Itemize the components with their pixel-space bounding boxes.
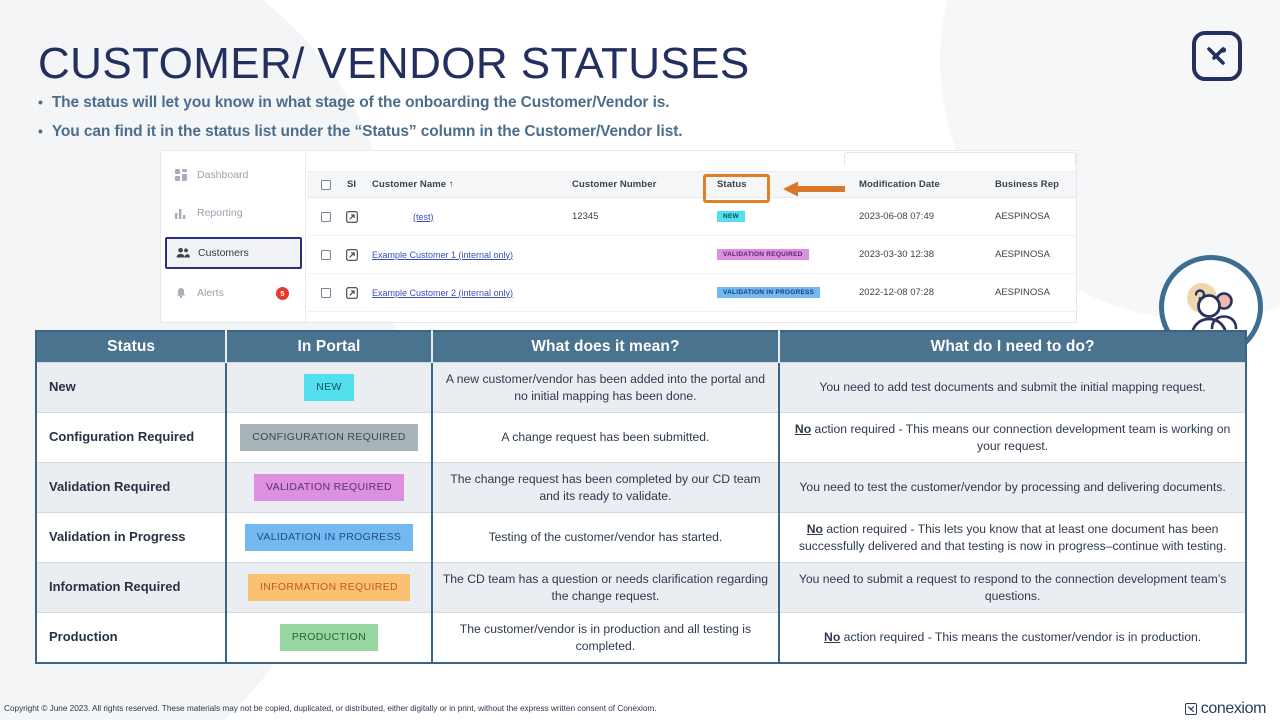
column-header-in-portal: In Portal xyxy=(226,331,431,363)
grid-column-customer-name[interactable]: Customer Name ↑ xyxy=(372,172,454,197)
portal-chip-cell: VALIDATION REQUIRED xyxy=(226,463,431,513)
status-badge: VALIDATION REQUIRED xyxy=(717,236,809,273)
grid-column-si[interactable]: SI xyxy=(347,172,356,197)
table-row: Validation Required VALIDATION REQUIRED … xyxy=(36,463,1246,513)
status-chip: VALIDATION IN PROGRESS xyxy=(245,524,413,551)
portal-chip-cell: CONFIGURATION REQUIRED xyxy=(226,413,431,463)
table-header-row: Status In Portal What does it mean? What… xyxy=(36,331,1246,363)
open-external-icon[interactable] xyxy=(346,236,358,273)
status-badge: VALIDATION IN PROGRESS xyxy=(717,274,820,311)
conexiom-x-mark-icon xyxy=(1185,703,1197,715)
bullet-list: • The status will let you know in what s… xyxy=(38,93,683,151)
conexiom-x-logo-icon xyxy=(1192,31,1242,81)
meaning-cell: Testing of the customer/vendor has start… xyxy=(432,513,780,563)
meaning-cell: The change request has been completed by… xyxy=(432,463,780,513)
portal-chip-cell: PRODUCTION xyxy=(226,613,431,664)
sidebar-item-dashboard[interactable]: Dashboard xyxy=(161,161,305,189)
people-icon xyxy=(176,247,193,259)
column-header-what-does-it-mean: What does it mean? xyxy=(432,331,780,363)
table-row: New NEW A new customer/vendor has been a… xyxy=(36,363,1246,413)
status-chip-label: NEW xyxy=(717,211,745,222)
action-cell: No action required - This lets you know … xyxy=(779,513,1246,563)
status-chip: VALIDATION REQUIRED xyxy=(254,474,404,501)
table-row: Validation in Progress VALIDATION IN PRO… xyxy=(36,513,1246,563)
status-column-highlight-box xyxy=(703,174,770,203)
sidebar-item-label: Customers xyxy=(198,247,249,259)
table-row: Production PRODUCTION The customer/vendo… xyxy=(36,613,1246,664)
meaning-cell: The CD team has a question or needs clar… xyxy=(432,563,780,613)
row-checkbox[interactable] xyxy=(321,236,331,273)
open-external-icon[interactable] xyxy=(346,274,358,311)
open-external-icon[interactable] xyxy=(346,198,358,235)
table-row: Configuration Required CONFIGURATION REQ… xyxy=(36,413,1246,463)
meaning-cell: The customer/vendor is in production and… xyxy=(432,613,780,664)
app-sidebar: Dashboard Reporting xyxy=(161,151,306,322)
grid-column-customer-number[interactable]: Customer Number xyxy=(572,172,656,197)
portal-chip-cell: INFORMATION REQUIRED xyxy=(226,563,431,613)
bullet-dot-icon: • xyxy=(38,122,43,140)
business-rep-cell: AESPINOSA xyxy=(995,274,1050,311)
bullet-item: • You can find it in the status list und… xyxy=(38,122,683,141)
sidebar-item-label: Reporting xyxy=(197,207,243,219)
column-header-status: Status xyxy=(36,331,226,363)
annotation-arrow-icon xyxy=(783,180,845,203)
table-row: Information Required INFORMATION REQUIRE… xyxy=(36,563,1246,613)
conexiom-footer-logo: conexiom xyxy=(1185,700,1266,718)
status-label: Configuration Required xyxy=(36,413,226,463)
grid-header-row: SI Customer Name ↑ Customer Number Statu… xyxy=(307,171,1076,198)
conexiom-wordmark: conexiom xyxy=(1201,700,1266,718)
table-row[interactable]: Example Customer 2 (internal only) VALID… xyxy=(307,274,1076,312)
modification-date-cell: 2023-03-30 12:38 xyxy=(859,236,934,273)
action-text: action required - This lets you know tha… xyxy=(799,522,1226,553)
modification-date-cell: 2023-06-08 07:49 xyxy=(859,198,934,235)
row-checkbox[interactable] xyxy=(321,198,331,235)
meaning-cell: A new customer/vendor has been added int… xyxy=(432,363,780,413)
bullet-dot-icon: • xyxy=(38,93,43,111)
grid-toolbar xyxy=(307,151,1076,163)
sidebar-item-label: Dashboard xyxy=(197,169,248,181)
grid-column-business-rep[interactable]: Business Rep xyxy=(995,172,1059,197)
action-cell: No action required - This means the cust… xyxy=(779,613,1246,664)
slide-root: CUSTOMER/ VENDOR STATUSES • The status w… xyxy=(0,0,1280,720)
sidebar-item-label: Alerts xyxy=(197,287,224,299)
action-cell: You need to test the customer/vendor by … xyxy=(779,463,1246,513)
status-label: Validation in Progress xyxy=(36,513,226,563)
status-badge: NEW xyxy=(717,198,745,235)
status-chip: CONFIGURATION REQUIRED xyxy=(240,424,417,451)
action-text: You need to submit a request to respond … xyxy=(799,572,1227,603)
copyright-text: Copyright © June 2023. All rights reserv… xyxy=(4,703,657,713)
business-rep-cell: AESPINOSA xyxy=(995,236,1050,273)
column-header-what-do-i-need-to-do: What do I need to do? xyxy=(779,331,1246,363)
sidebar-item-reporting[interactable]: Reporting xyxy=(161,199,305,227)
customer-name-link[interactable]: Example Customer 1 (internal only) xyxy=(372,236,513,273)
bar-chart-icon xyxy=(175,207,192,219)
action-text: action required - This means the custome… xyxy=(840,630,1201,644)
action-prefix: No xyxy=(795,422,811,436)
bullet-text: The status will let you know in what sta… xyxy=(52,93,670,112)
portal-chip-cell: NEW xyxy=(226,363,431,413)
business-rep-cell: AESPINOSA xyxy=(995,198,1050,235)
status-label: Validation Required xyxy=(36,463,226,513)
action-cell: No action required - This means our conn… xyxy=(779,413,1246,463)
customer-number-cell: 12345 xyxy=(572,198,598,235)
status-reference-table: Status In Portal What does it mean? What… xyxy=(35,330,1247,664)
action-prefix: No xyxy=(807,522,823,536)
page-title: CUSTOMER/ VENDOR STATUSES xyxy=(38,39,750,89)
status-label: Production xyxy=(36,613,226,664)
action-text: action required - This means our connect… xyxy=(811,422,1230,453)
customer-name-link[interactable]: Example Customer 2 (internal only) xyxy=(372,274,513,311)
modification-date-cell: 2022-12-08 07:28 xyxy=(859,274,934,311)
sidebar-item-customers[interactable]: Customers xyxy=(165,237,302,269)
portal-chip-cell: VALIDATION IN PROGRESS xyxy=(226,513,431,563)
select-all-checkbox[interactable] xyxy=(321,172,331,197)
status-chip-label: VALIDATION IN PROGRESS xyxy=(717,287,820,298)
grid-column-modification-date[interactable]: Modification Date xyxy=(859,172,940,197)
table-row[interactable]: Example Customer 1 (internal only) VALID… xyxy=(307,236,1076,274)
status-chip-label: VALIDATION REQUIRED xyxy=(717,249,809,260)
action-text: You need to add test documents and submi… xyxy=(819,380,1205,394)
action-cell: You need to submit a request to respond … xyxy=(779,563,1246,613)
status-chip: PRODUCTION xyxy=(280,624,378,651)
table-row[interactable]: (test) 12345 NEW 2023-06-08 07:49 AESPIN… xyxy=(307,198,1076,236)
row-checkbox[interactable] xyxy=(321,274,331,311)
meaning-cell: A change request has been submitted. xyxy=(432,413,780,463)
status-chip: NEW xyxy=(304,374,354,401)
embedded-app-screenshot: Dashboard Reporting xyxy=(160,150,1077,323)
bell-icon xyxy=(175,287,192,299)
bullet-item: • The status will let you know in what s… xyxy=(38,93,683,112)
dashboard-icon xyxy=(175,169,192,181)
toolbar-panel[interactable] xyxy=(844,152,1076,166)
status-label: New xyxy=(36,363,226,413)
bullet-text: You can find it in the status list under… xyxy=(52,122,683,141)
status-label: Information Required xyxy=(36,563,226,613)
customer-name-link[interactable]: (test) xyxy=(413,198,434,235)
action-cell: You need to add test documents and submi… xyxy=(779,363,1246,413)
alerts-badge: 5 xyxy=(276,287,289,300)
app-main-grid: SI Customer Name ↑ Customer Number Statu… xyxy=(307,151,1076,322)
action-prefix: No xyxy=(824,630,840,644)
action-text: You need to test the customer/vendor by … xyxy=(799,480,1225,494)
status-chip: INFORMATION REQUIRED xyxy=(248,574,410,601)
sidebar-item-alerts[interactable]: Alerts 5 xyxy=(161,279,305,307)
